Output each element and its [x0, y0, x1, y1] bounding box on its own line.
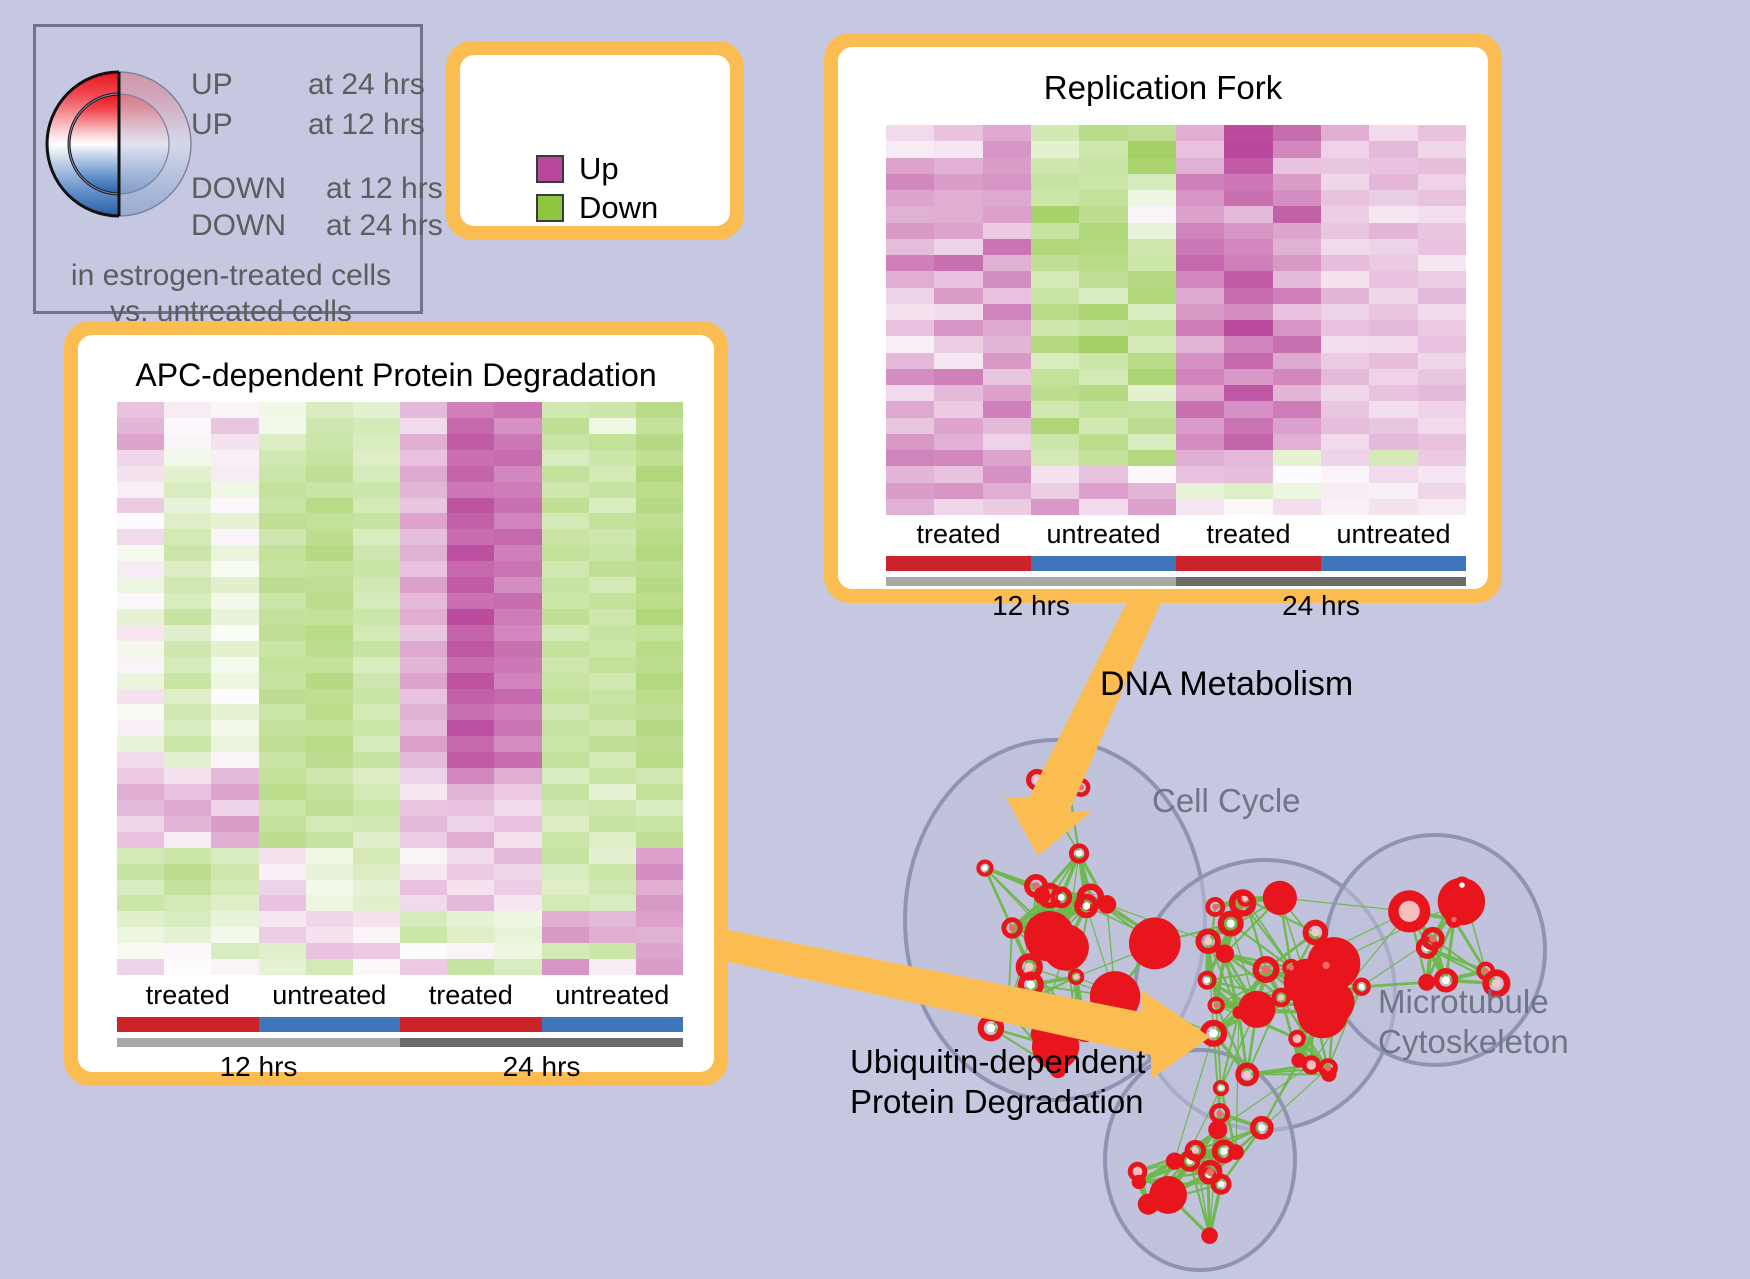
- heatmap-cell: [494, 832, 541, 848]
- heatmap-cell: [164, 434, 211, 450]
- heatmap-cell: [636, 513, 683, 529]
- heatmap-cell: [117, 880, 164, 896]
- heatmap-cell: [494, 402, 541, 418]
- heatmap-cell: [353, 561, 400, 577]
- ring-label-up-24h: UP: [191, 68, 233, 102]
- heatmap-cell: [589, 673, 636, 689]
- heatmap-cell: [1418, 190, 1466, 206]
- heatmap-cell: [1273, 174, 1321, 190]
- heatmap-cell: [494, 689, 541, 705]
- heatmap-cell: [1418, 353, 1466, 369]
- heatmap-cell: [447, 848, 494, 864]
- network-node-core: [1322, 962, 1329, 969]
- heatmap-cell: [1321, 255, 1369, 271]
- heatmap-cell: [983, 125, 1031, 141]
- heatmap-cell: [542, 609, 589, 625]
- heatmap-cell: [211, 911, 258, 927]
- heatmap-cell: [886, 190, 934, 206]
- heatmap-cell: [117, 609, 164, 625]
- heatmap-cell: [117, 450, 164, 466]
- heatmap-cell: [983, 353, 1031, 369]
- heatmap-cell: [636, 561, 683, 577]
- heatmap-cell: [589, 752, 636, 768]
- heatmap-cell: [589, 593, 636, 609]
- heatmap-cell: [542, 864, 589, 880]
- heatmap-cell: [1031, 288, 1079, 304]
- heatmap-cell: [886, 401, 934, 417]
- network-node: [1138, 1194, 1159, 1215]
- heatmap-cell: [259, 848, 306, 864]
- condition-label: untreated: [1031, 519, 1176, 550]
- heatmap-cell: [306, 959, 353, 975]
- heatmap-cell: [164, 864, 211, 880]
- key-row-up: Up: [536, 153, 619, 184]
- heatmap-cell: [1321, 125, 1369, 141]
- heatmap-cell: [886, 418, 934, 434]
- heatmap-cell: [636, 704, 683, 720]
- heatmap-cell: [211, 498, 258, 514]
- heatmap-cell: [259, 689, 306, 705]
- heatmap-cell: [164, 641, 211, 657]
- heatmap-cell: [983, 418, 1031, 434]
- heatmap-cell: [589, 784, 636, 800]
- heatmap-cell: [1031, 174, 1079, 190]
- heatmap-cell: [306, 498, 353, 514]
- heatmap-cell: [636, 800, 683, 816]
- heatmap-cell: [1176, 353, 1224, 369]
- heatmap-cell: [934, 336, 982, 352]
- heatmap-cell: [353, 657, 400, 673]
- heatmap-cell: [1031, 466, 1079, 482]
- heatmap-cell: [589, 911, 636, 927]
- heatmap-cell: [306, 529, 353, 545]
- heatmap-cell: [306, 641, 353, 657]
- heatmap-cell: [447, 641, 494, 657]
- heatmap-cell: [117, 577, 164, 593]
- heatmap-cell: [306, 704, 353, 720]
- heatmap-cell: [353, 864, 400, 880]
- heatmap-cell: [306, 736, 353, 752]
- heatmap-cell: [1273, 320, 1321, 336]
- heatmap-cell: [1128, 206, 1176, 222]
- heatmap-color-key-panel: Up Down: [446, 41, 744, 240]
- heatmap-cell: [1321, 369, 1369, 385]
- heatmap-cell: [259, 466, 306, 482]
- ring-time-up-12h: at 12 hrs: [308, 108, 425, 142]
- heatmap-cell: [259, 498, 306, 514]
- heatmap-cell: [1369, 223, 1417, 239]
- heatmap-cell: [353, 736, 400, 752]
- heatmap-cell: [1128, 125, 1176, 141]
- condition-bar-segment: [1031, 556, 1176, 571]
- heatmap-cell: [1273, 450, 1321, 466]
- heatmap-cell: [164, 943, 211, 959]
- condition-label: treated: [117, 980, 259, 1011]
- heatmap-cell: [542, 768, 589, 784]
- heatmap-cell: [164, 704, 211, 720]
- heatmap-cell: [259, 545, 306, 561]
- heatmap-cell: [934, 255, 982, 271]
- heatmap-cell: [117, 959, 164, 975]
- heatmap-cell: [636, 625, 683, 641]
- heatmap-cell: [494, 800, 541, 816]
- heatmap-cell: [117, 784, 164, 800]
- network-node-core: [1288, 965, 1294, 971]
- heatmap-cell: [542, 673, 589, 689]
- heatmap-cell: [1369, 320, 1417, 336]
- replication-fork-condition-bar: [886, 556, 1466, 571]
- network-node-core: [1243, 1071, 1251, 1079]
- heatmap-cell: [494, 927, 541, 943]
- heatmap-cell: [400, 577, 447, 593]
- heatmap-cell: [1418, 288, 1466, 304]
- heatmap-cell: [934, 353, 982, 369]
- heatmap-cell: [1369, 434, 1417, 450]
- heatmap-cell: [1224, 369, 1272, 385]
- heatmap-cell: [306, 418, 353, 434]
- network-node-core: [1459, 882, 1464, 887]
- heatmap-cell: [1224, 450, 1272, 466]
- condition-label: treated: [1176, 519, 1321, 550]
- heatmap-cell: [400, 768, 447, 784]
- heatmap-cell: [494, 864, 541, 880]
- heatmap-cell: [494, 943, 541, 959]
- heatmap-cell: [542, 689, 589, 705]
- heatmap-cell: [211, 482, 258, 498]
- network-node-core: [1078, 784, 1084, 790]
- network-node: [1129, 917, 1181, 969]
- network-node-core: [1399, 901, 1420, 922]
- replication-fork-time-labels: 12 hrs24 hrs: [886, 590, 1466, 622]
- cluster-label-ubiquitin: Ubiquitin-dependentProtein Degradation: [850, 1042, 1145, 1121]
- heatmap-cell: [447, 911, 494, 927]
- heatmap-cell: [589, 466, 636, 482]
- heatmap-cell: [1321, 206, 1369, 222]
- heatmap-cell: [447, 689, 494, 705]
- heatmap-cell: [1321, 141, 1369, 157]
- heatmap-cell: [447, 816, 494, 832]
- heatmap-cell: [1031, 450, 1079, 466]
- heatmap-cell: [1128, 288, 1176, 304]
- heatmap-cell: [1369, 141, 1417, 157]
- heatmap-cell: [934, 499, 982, 515]
- heatmap-cell: [400, 513, 447, 529]
- heatmap-cell: [1418, 434, 1466, 450]
- heatmap-cell: [1079, 369, 1127, 385]
- heatmap-cell: [117, 593, 164, 609]
- heatmap-cell: [1224, 255, 1272, 271]
- heatmap-cell: [542, 720, 589, 736]
- network-node-core: [1218, 1085, 1223, 1090]
- heatmap-cell: [211, 466, 258, 482]
- heatmap-cell: [353, 943, 400, 959]
- heatmap-cell: [400, 498, 447, 514]
- heatmap-cell: [353, 895, 400, 911]
- heatmap-cell: [1128, 401, 1176, 417]
- heatmap-cell: [1031, 125, 1079, 141]
- ring-footnote-line-1: in estrogen-treated cells: [36, 259, 426, 293]
- heatmap-cell: [211, 625, 258, 641]
- heatmap-cell: [1273, 418, 1321, 434]
- heatmap-cell: [542, 895, 589, 911]
- heatmap-cell: [117, 848, 164, 864]
- heatmap-cell: [211, 880, 258, 896]
- heatmap-cell: [447, 736, 494, 752]
- heatmap-cell: [1031, 320, 1079, 336]
- heatmap-cell: [306, 832, 353, 848]
- heatmap-cell: [447, 513, 494, 529]
- heatmap-cell: [1128, 239, 1176, 255]
- heatmap-cell: [400, 418, 447, 434]
- heatmap-cell: [447, 450, 494, 466]
- heatmap-cell: [1369, 385, 1417, 401]
- network-node-core: [1212, 904, 1218, 910]
- heatmap-cell: [1079, 125, 1127, 141]
- heatmap-cell: [447, 609, 494, 625]
- heatmap-cell: [164, 498, 211, 514]
- heatmap-cell: [447, 498, 494, 514]
- heatmap-cell: [934, 483, 982, 499]
- network-node-core: [1005, 1006, 1012, 1013]
- heatmap-cell: [983, 141, 1031, 157]
- heatmap-cell: [211, 816, 258, 832]
- heatmap-cell: [886, 255, 934, 271]
- heatmap-cell: [400, 673, 447, 689]
- condition-bar-segment: [886, 556, 1031, 571]
- heatmap-cell: [164, 657, 211, 673]
- heatmap-cell: [306, 943, 353, 959]
- heatmap-cell: [117, 752, 164, 768]
- heatmap-cell: [1418, 499, 1466, 515]
- heatmap-cell: [983, 320, 1031, 336]
- heatmap-cell: [1176, 336, 1224, 352]
- heatmap-cell: [1031, 483, 1079, 499]
- heatmap-cell: [542, 450, 589, 466]
- heatmap-cell: [589, 816, 636, 832]
- heatmap-cell: [1031, 353, 1079, 369]
- heatmap-cell: [1176, 499, 1224, 515]
- heatmap-cell: [494, 625, 541, 641]
- heatmap-cell: [447, 434, 494, 450]
- heatmap-cell: [1418, 401, 1466, 417]
- heatmap-cell: [589, 577, 636, 593]
- heatmap-cell: [636, 927, 683, 943]
- heatmap-cell: [164, 911, 211, 927]
- heatmap-cell: [1176, 434, 1224, 450]
- heatmap-cell: [636, 959, 683, 975]
- heatmap-cell: [1176, 271, 1224, 287]
- heatmap-cell: [494, 784, 541, 800]
- heatmap-cell: [306, 577, 353, 593]
- heatmap-cell: [1128, 174, 1176, 190]
- heatmap-cell: [494, 450, 541, 466]
- heatmap-cell: [306, 880, 353, 896]
- heatmap-cell: [636, 418, 683, 434]
- heatmap-cell: [306, 466, 353, 482]
- heatmap-cell: [589, 800, 636, 816]
- heatmap-cell: [1031, 223, 1079, 239]
- heatmap-cell: [400, 832, 447, 848]
- heatmap-cell: [636, 752, 683, 768]
- heatmap-cell: [1369, 158, 1417, 174]
- heatmap-cell: [164, 689, 211, 705]
- heatmap-cell: [1321, 158, 1369, 174]
- heatmap-cell: [447, 466, 494, 482]
- heatmap-cell: [1369, 483, 1417, 499]
- heatmap-cell: [1321, 466, 1369, 482]
- heatmap-cell: [542, 736, 589, 752]
- heatmap-cell: [353, 577, 400, 593]
- heatmap-cell: [542, 784, 589, 800]
- network-node-core: [1025, 963, 1034, 972]
- heatmap-cell: [542, 848, 589, 864]
- heatmap-cell: [400, 911, 447, 927]
- heatmap-cell: [1176, 483, 1224, 499]
- heatmap-cell: [211, 848, 258, 864]
- heatmap-cell: [1369, 239, 1417, 255]
- heatmap-cell: [164, 816, 211, 832]
- heatmap-cell: [934, 401, 982, 417]
- heatmap-cell: [1176, 158, 1224, 174]
- heatmap-cell: [164, 513, 211, 529]
- heatmap-cell: [447, 880, 494, 896]
- heatmap-cell: [211, 609, 258, 625]
- heatmap-cell: [400, 800, 447, 816]
- heatmap-cell: [1418, 271, 1466, 287]
- heatmap-cell: [306, 434, 353, 450]
- heatmap-cell: [447, 720, 494, 736]
- heatmap-cell: [353, 832, 400, 848]
- time-label: 24 hrs: [1176, 590, 1466, 622]
- network-node: [1031, 1025, 1049, 1043]
- heatmap-cell: [589, 689, 636, 705]
- heatmap-cell: [447, 768, 494, 784]
- figure-canvas: UP at 24 hrs UP at 12 hrs DOWN at 12 hrs…: [0, 0, 1750, 1279]
- condition-bar-segment: [1321, 556, 1466, 571]
- heatmap-cell: [1224, 239, 1272, 255]
- time-label: 24 hrs: [400, 1051, 683, 1083]
- heatmap-cell: [117, 561, 164, 577]
- heatmap-cell: [494, 641, 541, 657]
- heatmap-cell: [353, 402, 400, 418]
- heatmap-cell: [636, 482, 683, 498]
- heatmap-cell: [1273, 125, 1321, 141]
- heatmap-cell: [400, 482, 447, 498]
- heatmap-cell: [447, 577, 494, 593]
- heatmap-cell: [1128, 304, 1176, 320]
- heatmap-cell: [1224, 483, 1272, 499]
- heatmap-cell: [447, 657, 494, 673]
- heatmap-cell: [1273, 466, 1321, 482]
- heatmap-cell: [542, 561, 589, 577]
- heatmap-cell: [983, 288, 1031, 304]
- heatmap-cell: [1176, 288, 1224, 304]
- condition-bar-segment: [400, 1017, 542, 1032]
- heatmap-cell: [542, 418, 589, 434]
- heatmap-cell: [117, 943, 164, 959]
- heatmap-cell: [983, 401, 1031, 417]
- heatmap-cell: [1176, 141, 1224, 157]
- heatmap-cell: [934, 434, 982, 450]
- heatmap-cell: [164, 736, 211, 752]
- heatmap-cell: [1079, 385, 1127, 401]
- heatmap-cell: [636, 434, 683, 450]
- heatmap-cell: [117, 864, 164, 880]
- heatmap-cell: [1031, 336, 1079, 352]
- heatmap-cell: [636, 943, 683, 959]
- heatmap-cell: [542, 529, 589, 545]
- heatmap-cell: [1369, 336, 1417, 352]
- heatmap-cell: [1418, 483, 1466, 499]
- heatmap-cell: [1273, 288, 1321, 304]
- condition-label: untreated: [1321, 519, 1466, 550]
- heatmap-cell: [589, 959, 636, 975]
- ring-time-down-24h: at 24 hrs: [326, 209, 443, 243]
- heatmap-cell: [353, 800, 400, 816]
- heatmap-cell: [117, 768, 164, 784]
- heatmap-cell: [1176, 239, 1224, 255]
- heatmap-cell: [353, 466, 400, 482]
- heatmap-cell: [259, 736, 306, 752]
- heatmap-cell: [494, 466, 541, 482]
- heatmap-cell: [542, 466, 589, 482]
- heatmap-cell: [636, 832, 683, 848]
- heatmap-cell: [306, 513, 353, 529]
- heatmap-cell: [542, 625, 589, 641]
- heatmap-cell: [494, 513, 541, 529]
- heatmap-cell: [1418, 255, 1466, 271]
- network-node: [1201, 1227, 1218, 1244]
- heatmap-cell: [1321, 353, 1369, 369]
- heatmap-cell: [1418, 141, 1466, 157]
- heatmap-cell: [117, 402, 164, 418]
- heatmap-cell: [1031, 304, 1079, 320]
- heatmap-cell: [1079, 336, 1127, 352]
- heatmap-cell: [259, 832, 306, 848]
- heatmap-cell: [636, 784, 683, 800]
- heatmap-cell: [636, 450, 683, 466]
- heatmap-cell: [886, 369, 934, 385]
- heatmap-cell: [353, 673, 400, 689]
- heatmap-cell: [1176, 385, 1224, 401]
- heatmap-cell: [400, 704, 447, 720]
- heatmap-cell: [589, 736, 636, 752]
- heatmap-cell: [259, 800, 306, 816]
- heatmap-cell: [306, 545, 353, 561]
- heatmap-cell: [934, 288, 982, 304]
- heatmap-cell: [1176, 320, 1224, 336]
- heatmap-cell: [934, 223, 982, 239]
- heatmap-cell: [211, 784, 258, 800]
- heatmap-cell: [259, 673, 306, 689]
- condition-label: treated: [886, 519, 1031, 550]
- heatmap-cell: [447, 800, 494, 816]
- heatmap-cell: [589, 498, 636, 514]
- condition-label: untreated: [259, 980, 401, 1011]
- heatmap-cell: [353, 498, 400, 514]
- heatmap-cell: [1418, 174, 1466, 190]
- heatmap-cell: [1224, 206, 1272, 222]
- heatmap-cell: [353, 927, 400, 943]
- heatmap-cell: [400, 402, 447, 418]
- heatmap-cell: [542, 959, 589, 975]
- heatmap-cell: [164, 848, 211, 864]
- heatmap-cell: [1321, 450, 1369, 466]
- heatmap-cell: [1031, 401, 1079, 417]
- heatmap-cell: [400, 848, 447, 864]
- heatmap-cell: [1176, 418, 1224, 434]
- network-node: [1090, 971, 1140, 1021]
